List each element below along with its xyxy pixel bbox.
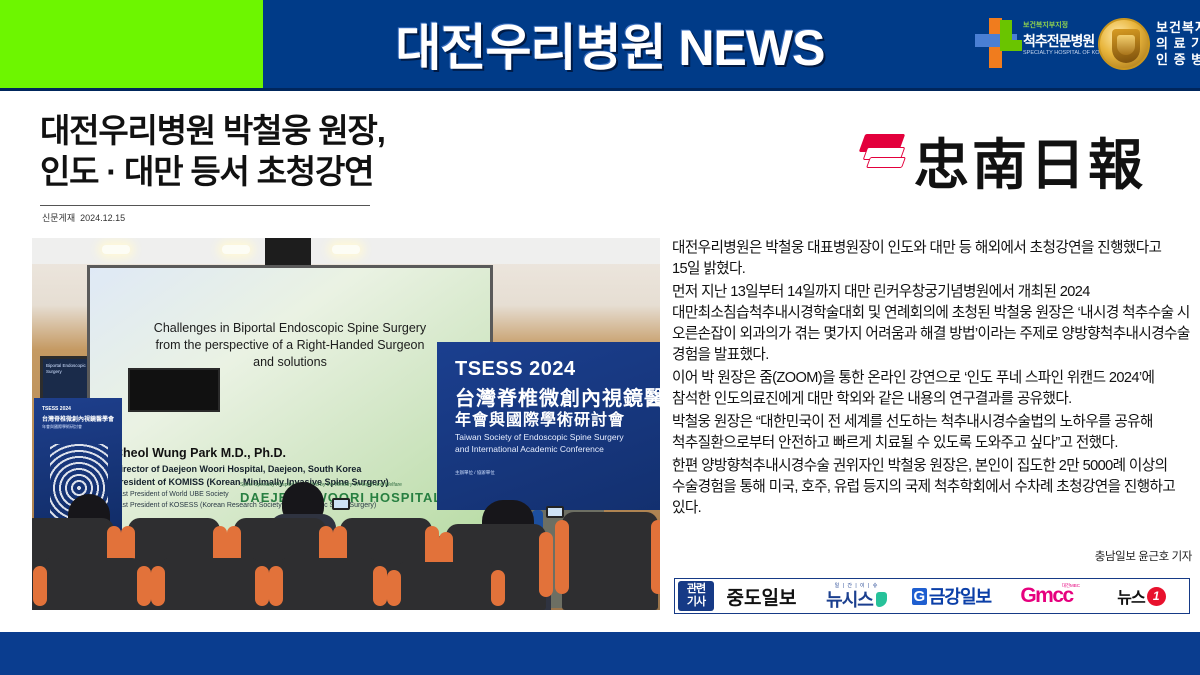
press-logo-joongdo-ilbo[interactable]: 중도일보 xyxy=(714,579,809,613)
newspaper-logo: 忠南日報 xyxy=(862,118,1182,186)
related-articles-badge: 관련 기사 xyxy=(678,581,714,611)
smartphone-icon xyxy=(332,498,350,510)
press-sup: 대전MBC xyxy=(1062,583,1080,589)
press-name: 금강일보 xyxy=(929,583,991,609)
ministry-accreditation-logo: 보건복지부 의 료 기 관 인 증 병 원 xyxy=(1098,12,1194,78)
standee-line-2: 台灣脊椎微創內視鏡醫學會 xyxy=(42,414,114,423)
news-card: 대전우리병원 NEWS 보건복지부지정 척추전문병원 SPECIALTY HOS… xyxy=(0,0,1200,675)
accredit-line-3: 인 증 병 원 xyxy=(1156,52,1200,68)
headline-line-1: 대전우리병원 박철웅 원장, xyxy=(40,112,385,149)
auditorium-seat xyxy=(158,558,262,610)
slide-title-line-2: from the perspective of a Right-Handed S… xyxy=(156,338,425,352)
slide-presenter-name: Cheol Wung Park M.D., Ph.D. xyxy=(114,446,286,460)
spine-specialty-hospital-logo: 보건복지부지정 척추전문병원 SPECIALTY HOSPITAL OF KOR… xyxy=(975,14,1087,76)
newspaper-name: 忠南日報 xyxy=(914,120,1146,200)
press-logo-gmcc[interactable]: 대전MBC Gmcc xyxy=(999,579,1094,613)
slide-title-line-1: Challenges in Biportal Endoscopic Spine … xyxy=(154,321,426,335)
press-name: 중도일보 xyxy=(727,583,797,610)
press-sup: 일 | 간 | 이 | 슈 xyxy=(835,582,879,589)
smartphone-icon xyxy=(546,506,564,518)
article-paragraph: 한편 양방향척추내시경수술 권위자인 박철웅 원장은, 본인이 집도한 2만 5… xyxy=(672,456,1192,519)
footer-bar: 대전우리병원 xyxy=(0,632,1200,675)
press-logo-newsis[interactable]: 일 | 간 | 이 | 슈 뉴시스 xyxy=(809,579,904,613)
publish-label: 신문게재 xyxy=(42,213,75,223)
header-bar: 대전우리병원 NEWS 보건복지부지정 척추전문병원 SPECIALTY HOS… xyxy=(0,0,1200,88)
press-logo-news1[interactable]: 뉴스 1 xyxy=(1094,579,1189,613)
standee-line-1: TSESS 2024 xyxy=(42,406,71,412)
leaf-icon xyxy=(876,592,887,607)
article-body: 대전우리병원은 박철웅 대표병원장이 인도와 대만 등 해외에서 초청강연을 진… xyxy=(672,238,1192,521)
auditorium-seat xyxy=(562,512,658,610)
publish-date-value: 2024.12.15 xyxy=(80,213,125,223)
banner-line-5: and International Academic Conference xyxy=(455,444,604,454)
badge-line-1: 관련 xyxy=(687,583,705,596)
headline-line-2: 인도 · 대만 등서 초청강연 xyxy=(40,153,373,190)
slide-title-line-3: and solutions xyxy=(253,355,327,369)
slide-title: Challenges in Biportal Endoscopic Spine … xyxy=(100,320,480,371)
header-green-block xyxy=(0,0,263,88)
accredit-line-2: 의 료 기 관 xyxy=(1156,36,1200,52)
book-mark-icon xyxy=(862,134,908,172)
press-badge: 1 xyxy=(1147,587,1166,606)
press-prefix: G xyxy=(912,588,927,605)
ceiling-light xyxy=(102,245,130,254)
publish-date: 신문게재 2024.12.15 xyxy=(42,211,125,224)
cross-icon xyxy=(975,18,1021,68)
wall-tv xyxy=(128,368,220,412)
auditorium-seat xyxy=(394,562,498,610)
headline-block: 대전우리병원 박철웅 원장, 인도 · 대만 등서 초청강연 xyxy=(40,110,680,192)
ceiling-light xyxy=(222,245,250,254)
related-articles-bar: 관련 기사 중도일보 일 | 간 | 이 | 슈 뉴시스 G 금강일보 대전MB… xyxy=(674,578,1190,614)
cert-small-top: 보건복지부지정 xyxy=(1023,20,1068,30)
news-photo: Biportal Endoscopic Spine Surgery Challe… xyxy=(32,238,660,610)
article-byline: 충남일보 윤근호 기자 xyxy=(672,548,1192,564)
cert-main-label: 척추전문병원 xyxy=(1023,31,1094,51)
article-paragraph: 박철웅 원장은 “대한민국이 전 세계를 선도하는 척추내시경수술법의 노하우를… xyxy=(672,412,1192,454)
accredit-line-1: 보건복지부 xyxy=(1156,20,1200,36)
article-paragraph: 이어 박 원장은 줌(ZOOM)을 통한 온라인 강연으로 ‘인도 푸네 스파인… xyxy=(672,368,1192,410)
audience-area xyxy=(32,466,660,610)
press-name: 뉴시스 xyxy=(826,586,873,612)
banner-line-1: TSESS 2024 xyxy=(455,358,576,381)
headline-rule xyxy=(40,205,370,206)
standee-line-3: 年會與國際學術研討會 xyxy=(42,424,82,430)
auditorium-seat xyxy=(276,558,380,610)
banner-line-4: Taiwan Society of Endoscopic Spine Surge… xyxy=(455,432,624,442)
auditorium-seat xyxy=(40,558,144,610)
badge-line-2: 기사 xyxy=(687,596,705,609)
article-paragraph: 대전우리병원은 박철웅 대표병원장이 인도와 대만 등 해외에서 초청강연을 진… xyxy=(672,238,1192,280)
medal-icon xyxy=(1098,18,1150,70)
header-divider xyxy=(0,88,1200,91)
ceiling-light xyxy=(332,245,360,254)
page-title: 대전우리병원 NEWS xyxy=(300,12,920,76)
press-logo-geumgang-ilbo[interactable]: G 금강일보 xyxy=(904,579,999,613)
banner-line-3: 年會與國際學術研討會 xyxy=(455,406,625,430)
article-paragraph: 먼저 지난 13일부터 14일까지 대만 린커우창궁기념병원에서 개최된 202… xyxy=(672,282,1192,366)
press-name: 뉴스 xyxy=(1117,584,1144,608)
